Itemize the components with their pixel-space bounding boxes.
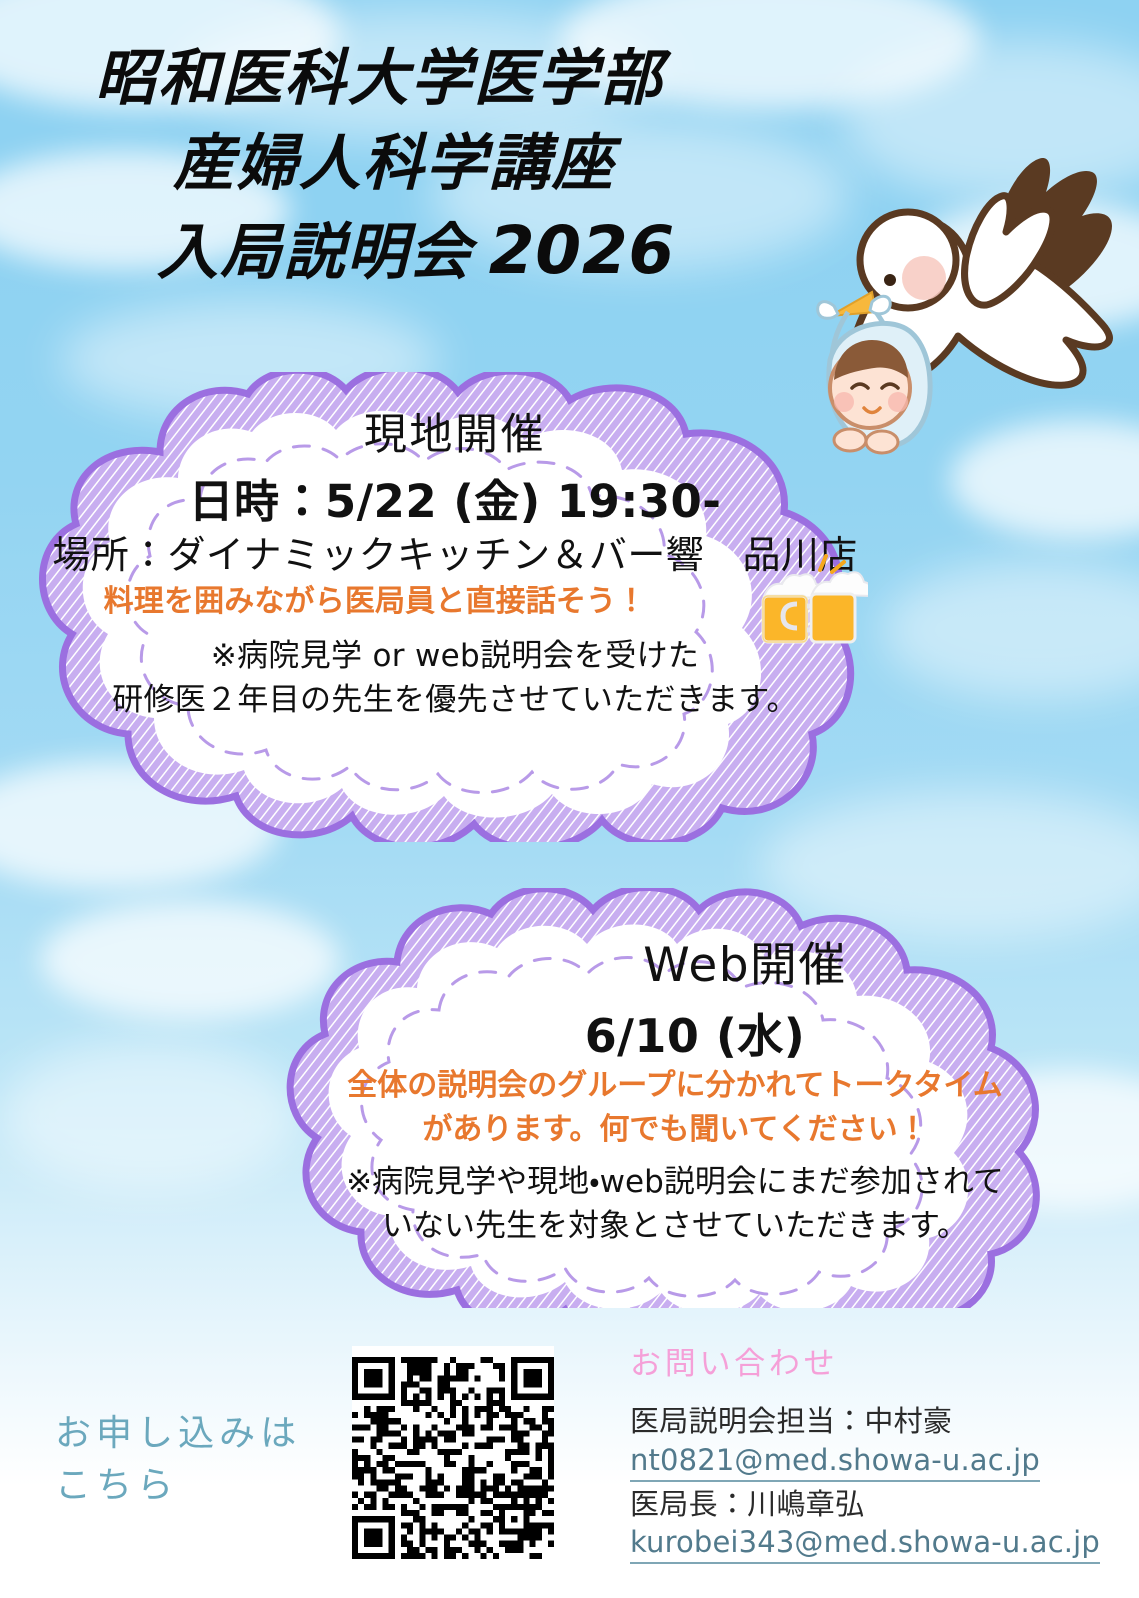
- qr-code-icon[interactable]: [352, 1346, 554, 1570]
- onsite-note-line-2: 研修医２年目の先生を優先させていただきます。: [10, 674, 900, 719]
- apply-label-line-2: こちら: [55, 1460, 355, 1512]
- poster-title: 昭和医科大学医学部 産婦人科学講座 入局説明会2026: [95, 48, 855, 284]
- title-year: 2026: [489, 212, 675, 289]
- poster-root: 昭和医科大学医学部 産婦人科学講座 入局説明会2026: [0, 0, 1139, 1598]
- contact-block: お問い合わせ 医局説明会担当：中村豪 nt0821@med.showa-u.ac…: [630, 1338, 1100, 1564]
- web-highlight-line-2: があります。何でも聞いてください！: [225, 1104, 1125, 1148]
- web-note-line-2: いない先生を対象とさせていただきます。: [225, 1200, 1125, 1245]
- apply-label-line-1: お申し込みは: [55, 1408, 355, 1460]
- web-date: 6/10 (水): [245, 1000, 1139, 1066]
- title-line-3: 入局説明会2026: [157, 218, 855, 284]
- contact-person-1-role: 医局説明会担当：中村豪: [630, 1403, 1100, 1441]
- title-line-3-text: 入局説明会: [157, 217, 473, 288]
- contact-person-2-role: 医局長：川嶋章弘: [630, 1486, 1100, 1524]
- title-line-2: 産婦人科学講座: [173, 133, 855, 194]
- onsite-note-line-1: ※病院見学 or web説明会を受けた: [10, 630, 900, 675]
- onsite-cloud-content: 現地開催 日時：5/22 (金) 19:30- 場所：ダイナミックキッチン＆バー…: [10, 372, 900, 842]
- title-line-1: 昭和医科大学医学部: [95, 48, 855, 109]
- contact-heading: お問い合わせ: [630, 1338, 1100, 1383]
- web-note-line-1: ※病院見学や現地・web説明会にまだ参加されて: [225, 1156, 1125, 1201]
- onsite-heading: 現地開催: [10, 400, 900, 462]
- onsite-highlight: 料理を囲みながら医局員と直接話そう！: [0, 576, 820, 620]
- contact-person-2-email[interactable]: kurobei343@med.showa-u.ac.jp: [630, 1523, 1100, 1564]
- web-cloud: Web開催 6/10 (水) 全体の説明会のグループに分かれてトークタイム があ…: [225, 888, 1125, 1308]
- apply-label: お申し込みは こちら: [55, 1408, 355, 1512]
- web-heading: Web開催: [295, 926, 1139, 995]
- onsite-datetime: 日時：5/22 (金) 19:30-: [10, 465, 900, 530]
- web-highlight-line-1: 全体の説明会のグループに分かれてトークタイム: [225, 1060, 1125, 1104]
- onsite-cloud: 現地開催 日時：5/22 (金) 19:30- 場所：ダイナミックキッチン＆バー…: [10, 372, 900, 842]
- contact-person-1-email[interactable]: nt0821@med.showa-u.ac.jp: [630, 1441, 1040, 1482]
- registration-qr-code[interactable]: [352, 1346, 554, 1570]
- web-cloud-content: Web開催 6/10 (水) 全体の説明会のグループに分かれてトークタイム があ…: [225, 888, 1125, 1308]
